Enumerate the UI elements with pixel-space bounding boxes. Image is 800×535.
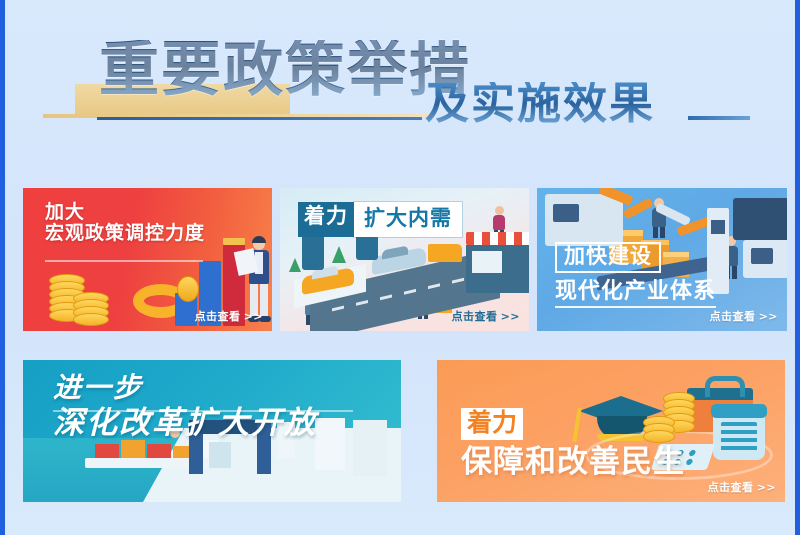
page-subtitle: 及实施效果 [425, 82, 655, 126]
illustration-booth-1 [209, 442, 231, 468]
illustration-toolbox-handle [705, 376, 745, 397]
illustration-machine-right [733, 198, 787, 240]
page-root: 重要政策举措 及实施效果 [0, 0, 800, 535]
illustration-tree-1 [332, 246, 346, 263]
illustration-pill-jar-lid [711, 404, 767, 418]
card-modern-industrial-system[interactable]: 加快建设 现代化产业体系 点击查看>> [537, 188, 787, 331]
card-cta-label: 点击查看 [195, 311, 241, 323]
chevron-right-double-icon: >> [501, 310, 520, 323]
card-heading: 加大 宏观政策调控力度 [45, 202, 205, 245]
illustration-bar-large-top [223, 238, 245, 245]
illustration-machine-right-screen [751, 248, 773, 264]
card-cta-link[interactable]: 点击查看>> [452, 308, 520, 324]
card-heading: 进一步 深化改革扩大开放 [53, 372, 317, 441]
illustration-machine-left-screen [553, 204, 579, 222]
card-heading-line1: 进一步 [53, 372, 317, 403]
card-heading: 着力 扩大内需 [298, 202, 462, 237]
card-heading-rule [45, 260, 203, 262]
card-heading-line1: 着力 [298, 202, 354, 237]
illustration-container-stack-c [147, 444, 171, 458]
illustration-single-coin [177, 276, 199, 302]
card-cta-label: 点击查看 [708, 482, 754, 494]
illustration-pillar-screen [711, 220, 725, 234]
illustration-pill-jar-stripes [721, 422, 757, 452]
card-heading-line1: 加大 [45, 202, 205, 223]
card-heading: 加快建设 现代化产业体系 [555, 242, 716, 308]
page-header: 重要政策举措 及实施效果 [5, 0, 795, 180]
illustration-delivery-truck [428, 244, 462, 262]
card-heading-rule [53, 410, 353, 412]
card-cta-link[interactable]: 点击查看>> [710, 308, 778, 324]
card-heading-line2: 宏观政策调控力度 [45, 223, 205, 244]
chevron-right-double-icon: >> [757, 481, 776, 494]
card-cta-label: 点击查看 [452, 311, 498, 323]
card-deepen-reform-opening-up[interactable]: 进一步 深化改革扩大开放 点击查看>> [23, 360, 401, 502]
card-heading: 着力 保障和改善民生 [461, 408, 685, 479]
illustration-coin-stack-short [71, 292, 109, 324]
card-heading-line2: 保障和改善民生 [461, 445, 685, 479]
illustration-billboard-left [302, 232, 324, 270]
illustration-booth-3 [315, 418, 345, 470]
card-cta-label: 点击查看 [710, 311, 756, 323]
card-cta-link[interactable]: 点击查看>> [195, 308, 263, 324]
illustration-tree-2 [289, 258, 301, 272]
card-expand-domestic-demand[interactable]: 着力 扩大内需 点击查看>> [280, 188, 529, 331]
illustration-container-stack-b [121, 440, 145, 458]
card-improve-peoples-livelihood[interactable]: 着力 保障和改善民生 点击查看>> [437, 360, 785, 502]
illustration-container-stack-a [95, 444, 119, 458]
title-tail-line-decoration [688, 116, 750, 120]
page-title: 重要政策举措 [99, 40, 471, 100]
illustration-shop-awning [466, 232, 529, 245]
card-heading-line1-wrap: 着力 [461, 408, 685, 440]
chevron-right-double-icon: >> [244, 310, 263, 323]
card-macro-policy-regulation[interactable]: 加大 宏观政策调控力度 点击查看>> [23, 188, 272, 331]
illustration-booth-4 [353, 420, 387, 476]
illustration-shop-window [472, 251, 502, 273]
card-heading-line1: 着力 [461, 408, 523, 440]
card-heading-line1: 加快建设 [555, 242, 661, 273]
card-cta-link[interactable]: 点击查看>> [708, 479, 776, 495]
card-heading-line2: 现代化产业体系 [555, 279, 716, 308]
card-heading-line2: 扩大内需 [354, 202, 462, 237]
title-underline-decoration [97, 117, 422, 120]
chevron-right-double-icon: >> [759, 310, 778, 323]
